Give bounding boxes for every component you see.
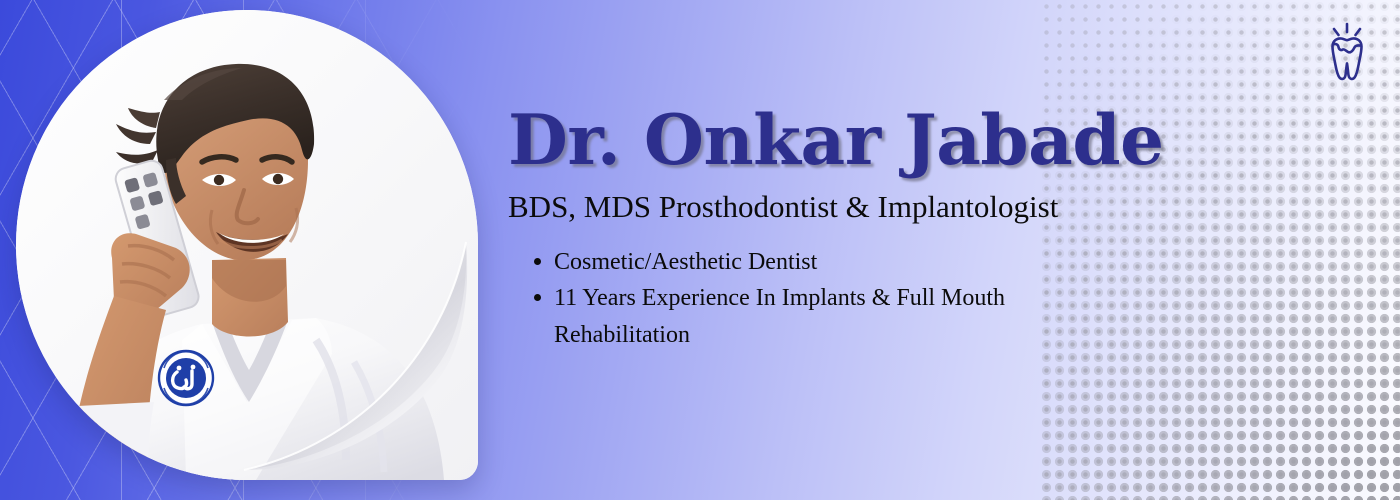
doctor-name: Dr. Onkar Jabade xyxy=(508,106,1208,175)
doctor-qualifications: BDS, MDS Prosthodontist & Implantologist xyxy=(508,189,1208,225)
banner-text-block: Dr. Onkar Jabade BDS, MDS Prosthodontist… xyxy=(508,106,1208,353)
credentials-list: Cosmetic/Aesthetic Dentist 11 Years Expe… xyxy=(508,244,1208,353)
doctor-photo-sticker xyxy=(16,10,478,480)
doctor-portrait-illustration xyxy=(16,10,478,480)
list-item: 11 Years Experience In Implants & Full M… xyxy=(554,280,1139,353)
clinic-badge xyxy=(159,351,213,405)
doctor-photo xyxy=(16,10,478,480)
list-item: Cosmetic/Aesthetic Dentist xyxy=(554,244,1139,280)
tooth-sparkle-icon xyxy=(1316,18,1378,84)
doctor-profile-banner: Dr. Onkar Jabade BDS, MDS Prosthodontist… xyxy=(0,0,1400,500)
